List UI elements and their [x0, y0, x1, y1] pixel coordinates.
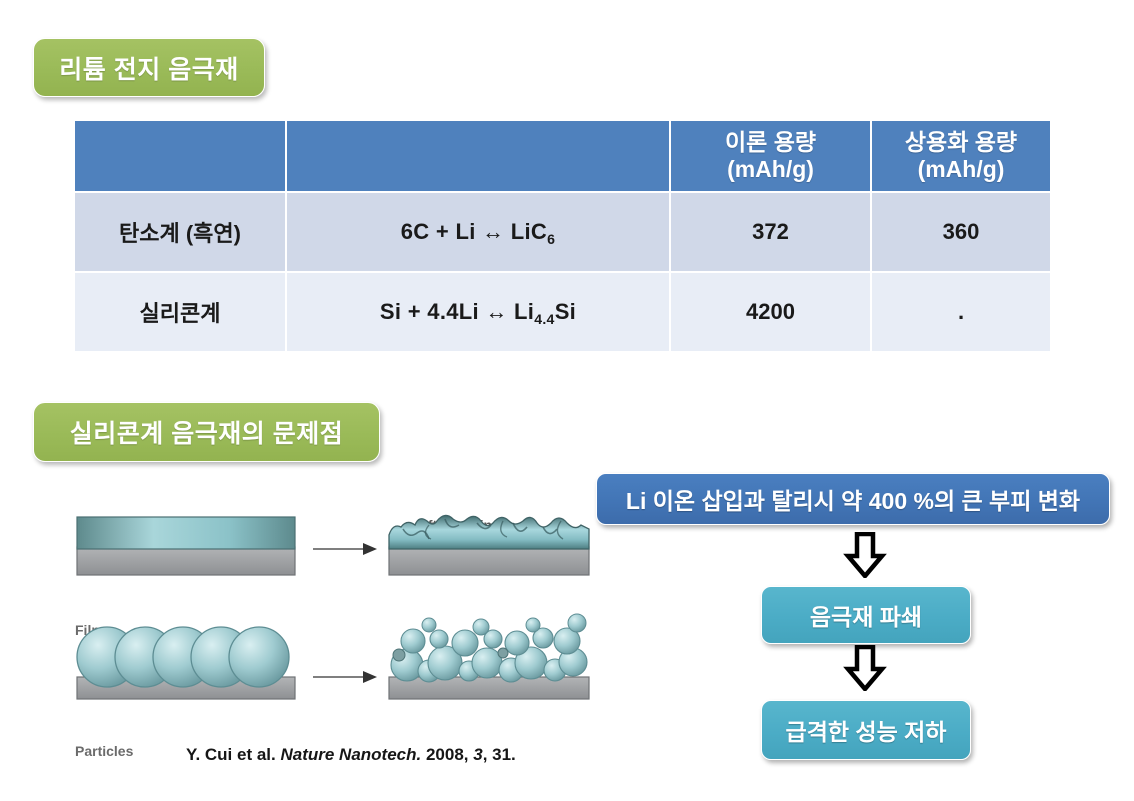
table-row: 탄소계 (흑연) 6C + Li ↔ LiC6 372 360: [75, 193, 1050, 271]
cell-commercial-capacity: .: [872, 273, 1050, 351]
table-header-reaction: [287, 121, 669, 191]
table-header-row: 이론 용량 (mAh/g) 상용화 용량 (mAh/g): [75, 121, 1050, 191]
cell-reaction: 6C + Li ↔ LiC6: [287, 193, 669, 271]
table-header-theoretical-capacity: 이론 용량 (mAh/g): [671, 121, 870, 191]
down-arrow-icon: [842, 645, 888, 691]
equation-subscript: 6: [547, 231, 555, 247]
cell-material: 탄소계 (흑연): [75, 193, 285, 271]
table-header-commercial-capacity: 상용화 용량 (mAh/g): [872, 121, 1050, 191]
citation-journal: Nature Nanotech.: [280, 745, 421, 764]
particles-initial-diagram: [77, 627, 295, 699]
commercial-capacity-line1: 상용화 용량: [872, 129, 1050, 156]
equation-main: 6C + Li ↔ LiC: [401, 219, 547, 244]
figure-drawing: [73, 505, 593, 775]
table-row: 실리콘계 Si + 4.4Li ↔ Li4.4Si 4200 .: [75, 273, 1050, 351]
down-arrow-icon: [842, 532, 888, 578]
table-header-material: [75, 121, 285, 191]
section-label-problem: 실리콘계 음극재의 문제점: [33, 402, 380, 462]
flow-box-performance-degradation: 급격한 성능 저하: [761, 700, 971, 760]
section-label-problem-text: 실리콘계 음극재의 문제점: [70, 414, 343, 450]
flow-box-anode-crush: 음극재 파쇄: [761, 586, 971, 644]
film-initial-diagram: [77, 517, 295, 575]
equation-main: Si + 4.4Li ↔ Li: [380, 299, 534, 324]
reaction-equation: 6C + Li ↔ LiC6: [401, 219, 555, 244]
flow-box-anode-crush-text: 음극재 파쇄: [810, 598, 922, 632]
equation-tail: Si: [555, 299, 576, 324]
figure-arrow-icon: [313, 543, 377, 555]
equation-subscript: 4.4: [534, 311, 554, 327]
capacity-table: 이론 용량 (mAh/g) 상용화 용량 (mAh/g) 탄소계 (흑연) 6C…: [73, 119, 1052, 353]
cell-commercial-capacity: 360: [872, 193, 1050, 271]
flow-box-volume-change-text: Li 이온 삽입과 탈리시 약 400 %의 큰 부피 변화: [626, 482, 1080, 516]
theoretical-capacity-line2: (mAh/g): [671, 156, 870, 183]
citation-pages: , 31.: [483, 745, 516, 764]
section-label-anode-text: 리튬 전지 음극재: [59, 50, 238, 86]
cell-theoretical-capacity: 372: [671, 193, 870, 271]
citation-volume: 3: [473, 745, 482, 764]
section-label-anode: 리튬 전지 음극재: [33, 38, 265, 97]
cell-theoretical-capacity: 4200: [671, 273, 870, 351]
citation-year: 2008,: [421, 745, 473, 764]
commercial-capacity-line2: (mAh/g): [872, 156, 1050, 183]
figure-arrow-icon: [313, 671, 377, 683]
film-after-diagram: [389, 515, 589, 575]
silicon-degradation-figure: Initial substrate After cycling Film Par…: [73, 505, 593, 775]
cell-reaction: Si + 4.4Li ↔ Li4.4Si: [287, 273, 669, 351]
flow-box-volume-change: Li 이온 삽입과 탈리시 약 400 %의 큰 부피 변화: [596, 473, 1110, 525]
particles-after-diagram: [389, 614, 589, 699]
theoretical-capacity-line1: 이론 용량: [671, 129, 870, 156]
citation-authors: Y. Cui et al.: [186, 745, 280, 764]
cell-material: 실리콘계: [75, 273, 285, 351]
figure-citation: Y. Cui et al. Nature Nanotech. 2008, 3, …: [186, 745, 516, 765]
flow-box-performance-degradation-text: 급격한 성능 저하: [786, 713, 947, 747]
reaction-equation: Si + 4.4Li ↔ Li4.4Si: [380, 299, 576, 324]
